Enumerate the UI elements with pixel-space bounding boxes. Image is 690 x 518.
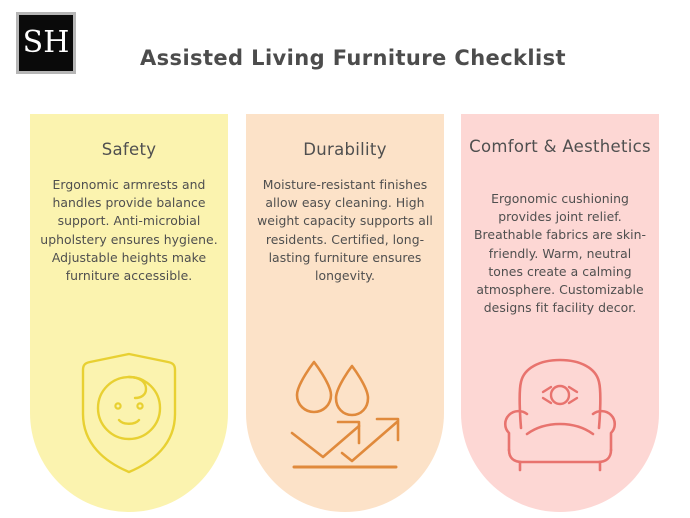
card-safety: Safety Ergonomic armrests and handles pr…	[30, 114, 228, 512]
card-durability-body: Moisture-resistant finishes allow easy c…	[256, 176, 434, 285]
logo-text: SH	[23, 28, 70, 58]
armchair-icon	[496, 354, 624, 478]
page-header: SH Assisted Living Furniture Checklist	[0, 0, 690, 100]
card-safety-heading: Safety	[38, 139, 220, 160]
shield-baby-face-icon	[77, 352, 181, 478]
card-comfort-aesthetics-body: Ergonomic cushioning provides joint reli…	[471, 190, 649, 318]
card-durability-heading: Durability	[254, 139, 436, 160]
water-repellent-droplets-icon	[284, 354, 406, 478]
checklist-cards: Safety Ergonomic armrests and handles pr…	[0, 114, 690, 514]
card-safety-body: Ergonomic armrests and handles provide b…	[40, 176, 218, 285]
sh-logo: SH	[16, 12, 76, 74]
card-durability: Durability Moisture-resistant finishes a…	[246, 114, 444, 512]
card-comfort-aesthetics: Comfort & Aesthetics Ergonomic cushionin…	[461, 114, 659, 512]
page-title: Assisted Living Furniture Checklist	[140, 46, 566, 70]
card-comfort-aesthetics-heading: Comfort & Aesthetics	[469, 136, 651, 157]
